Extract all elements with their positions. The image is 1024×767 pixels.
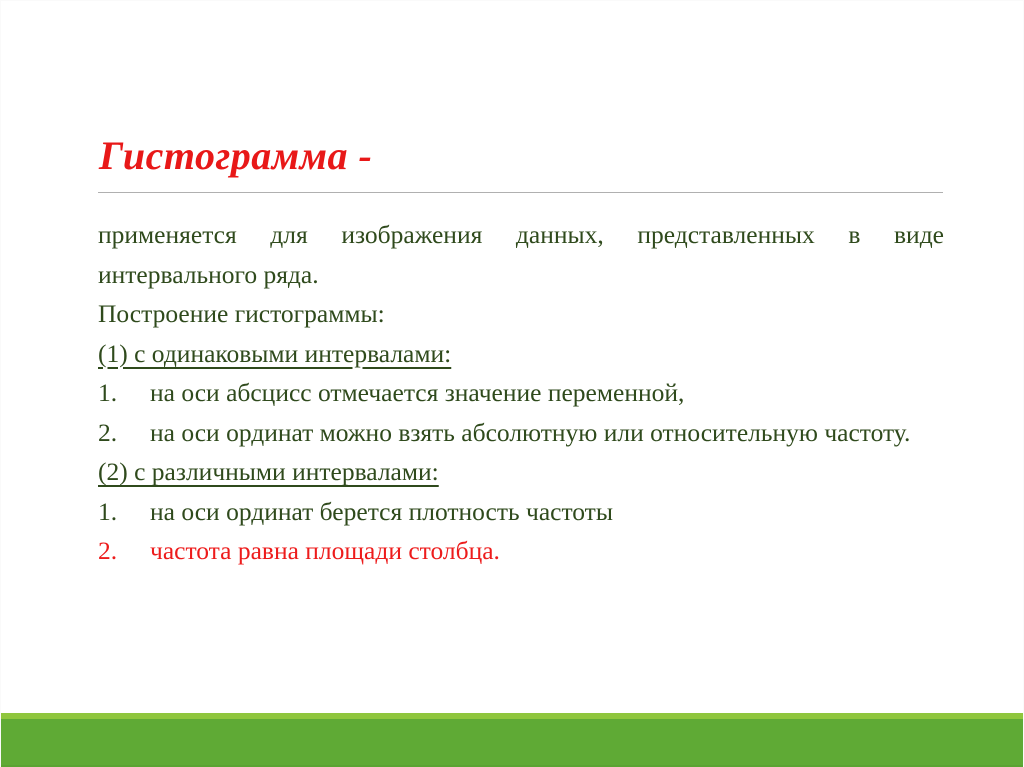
- list-item-text: на оси ординат можно взять абсолютную ил…: [150, 413, 944, 453]
- list-item: 1. на оси абсцисс отмечается значение пе…: [98, 373, 944, 413]
- list-item: 2. на оси ординат можно взять абсолютную…: [98, 413, 944, 453]
- group-two-heading: (2) с различными интервалами:: [98, 452, 944, 492]
- list-item-text: частота равна площади столбца.: [150, 531, 944, 571]
- page-title: Гистограмма -: [99, 134, 945, 179]
- group-one-heading: (1) с одинаковыми интервалами:: [98, 334, 944, 374]
- group-two-heading-text: (2) с различными интервалами:: [98, 457, 439, 486]
- construction-line: Построение гистограммы:: [98, 294, 944, 334]
- list-item-number: 2.: [98, 531, 150, 571]
- intro-paragraph: применяется для изображения данных, пред…: [98, 215, 944, 294]
- title-divider: [98, 192, 943, 193]
- footer-band-dark: [1, 719, 1024, 767]
- list-item-text: на оси ординат берется плотность частоты: [150, 492, 944, 532]
- list-item-highlighted: 2. частота равна площади столбца.: [98, 531, 944, 571]
- list-item: 1. на оси ординат берется плотность част…: [98, 492, 944, 532]
- list-item-number: 1.: [98, 492, 150, 532]
- list-item-text: на оси абсцисс отмечается значение перем…: [150, 373, 944, 413]
- list-item-number: 2.: [98, 413, 150, 453]
- slide-canvas: Гистограмма - применяется для изображени…: [0, 0, 1024, 767]
- list-item-number: 1.: [98, 373, 150, 413]
- group-one-heading-text: (1) с одинаковыми интервалами:: [98, 339, 451, 368]
- slide-body: применяется для изображения данных, пред…: [98, 215, 944, 571]
